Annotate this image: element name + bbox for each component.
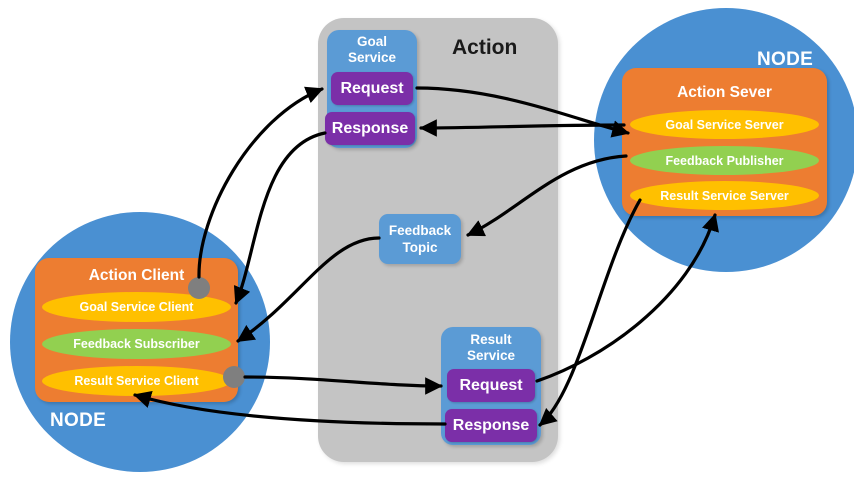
result-service-title-line2: Service bbox=[467, 348, 515, 363]
feedback-topic-label: Feedback Topic bbox=[389, 222, 451, 256]
goal-service-response-box[interactable]: Response bbox=[325, 112, 415, 145]
feedback-topic-line2: Topic bbox=[403, 240, 438, 255]
pill-feedback-publisher[interactable]: Feedback Publisher bbox=[630, 146, 819, 175]
feedback-topic-line1: Feedback bbox=[389, 223, 451, 238]
client-node-label: NODE bbox=[50, 410, 106, 432]
pill-result-service-server[interactable]: Result Service Server bbox=[630, 181, 819, 210]
client-result-connector-dot bbox=[223, 366, 245, 388]
feedback-topic-box[interactable]: Feedback Topic bbox=[379, 214, 461, 264]
pill-feedback-subscriber[interactable]: Feedback Subscriber bbox=[42, 329, 231, 359]
client-goal-connector-dot bbox=[188, 277, 210, 299]
goal-service-title-line1: Goal bbox=[357, 34, 387, 49]
pill-result-service-client[interactable]: Result Service Client bbox=[42, 366, 231, 396]
goal-service-request-box[interactable]: Request bbox=[331, 72, 413, 105]
goal-service-title: Goal Service bbox=[327, 34, 417, 66]
result-service-response-box[interactable]: Response bbox=[445, 409, 537, 442]
result-service-title: Result Service bbox=[441, 332, 541, 364]
result-service-title-line1: Result bbox=[470, 332, 511, 347]
pill-goal-service-server[interactable]: Goal Service Server bbox=[630, 110, 819, 139]
result-service-request-box[interactable]: Request bbox=[447, 369, 535, 402]
diagram-canvas: NODE Action Client Goal Service Client F… bbox=[0, 0, 854, 480]
action-panel-title: Action bbox=[452, 36, 517, 60]
action-server-title: Action Sever bbox=[622, 84, 827, 102]
goal-service-title-line2: Service bbox=[348, 50, 396, 65]
